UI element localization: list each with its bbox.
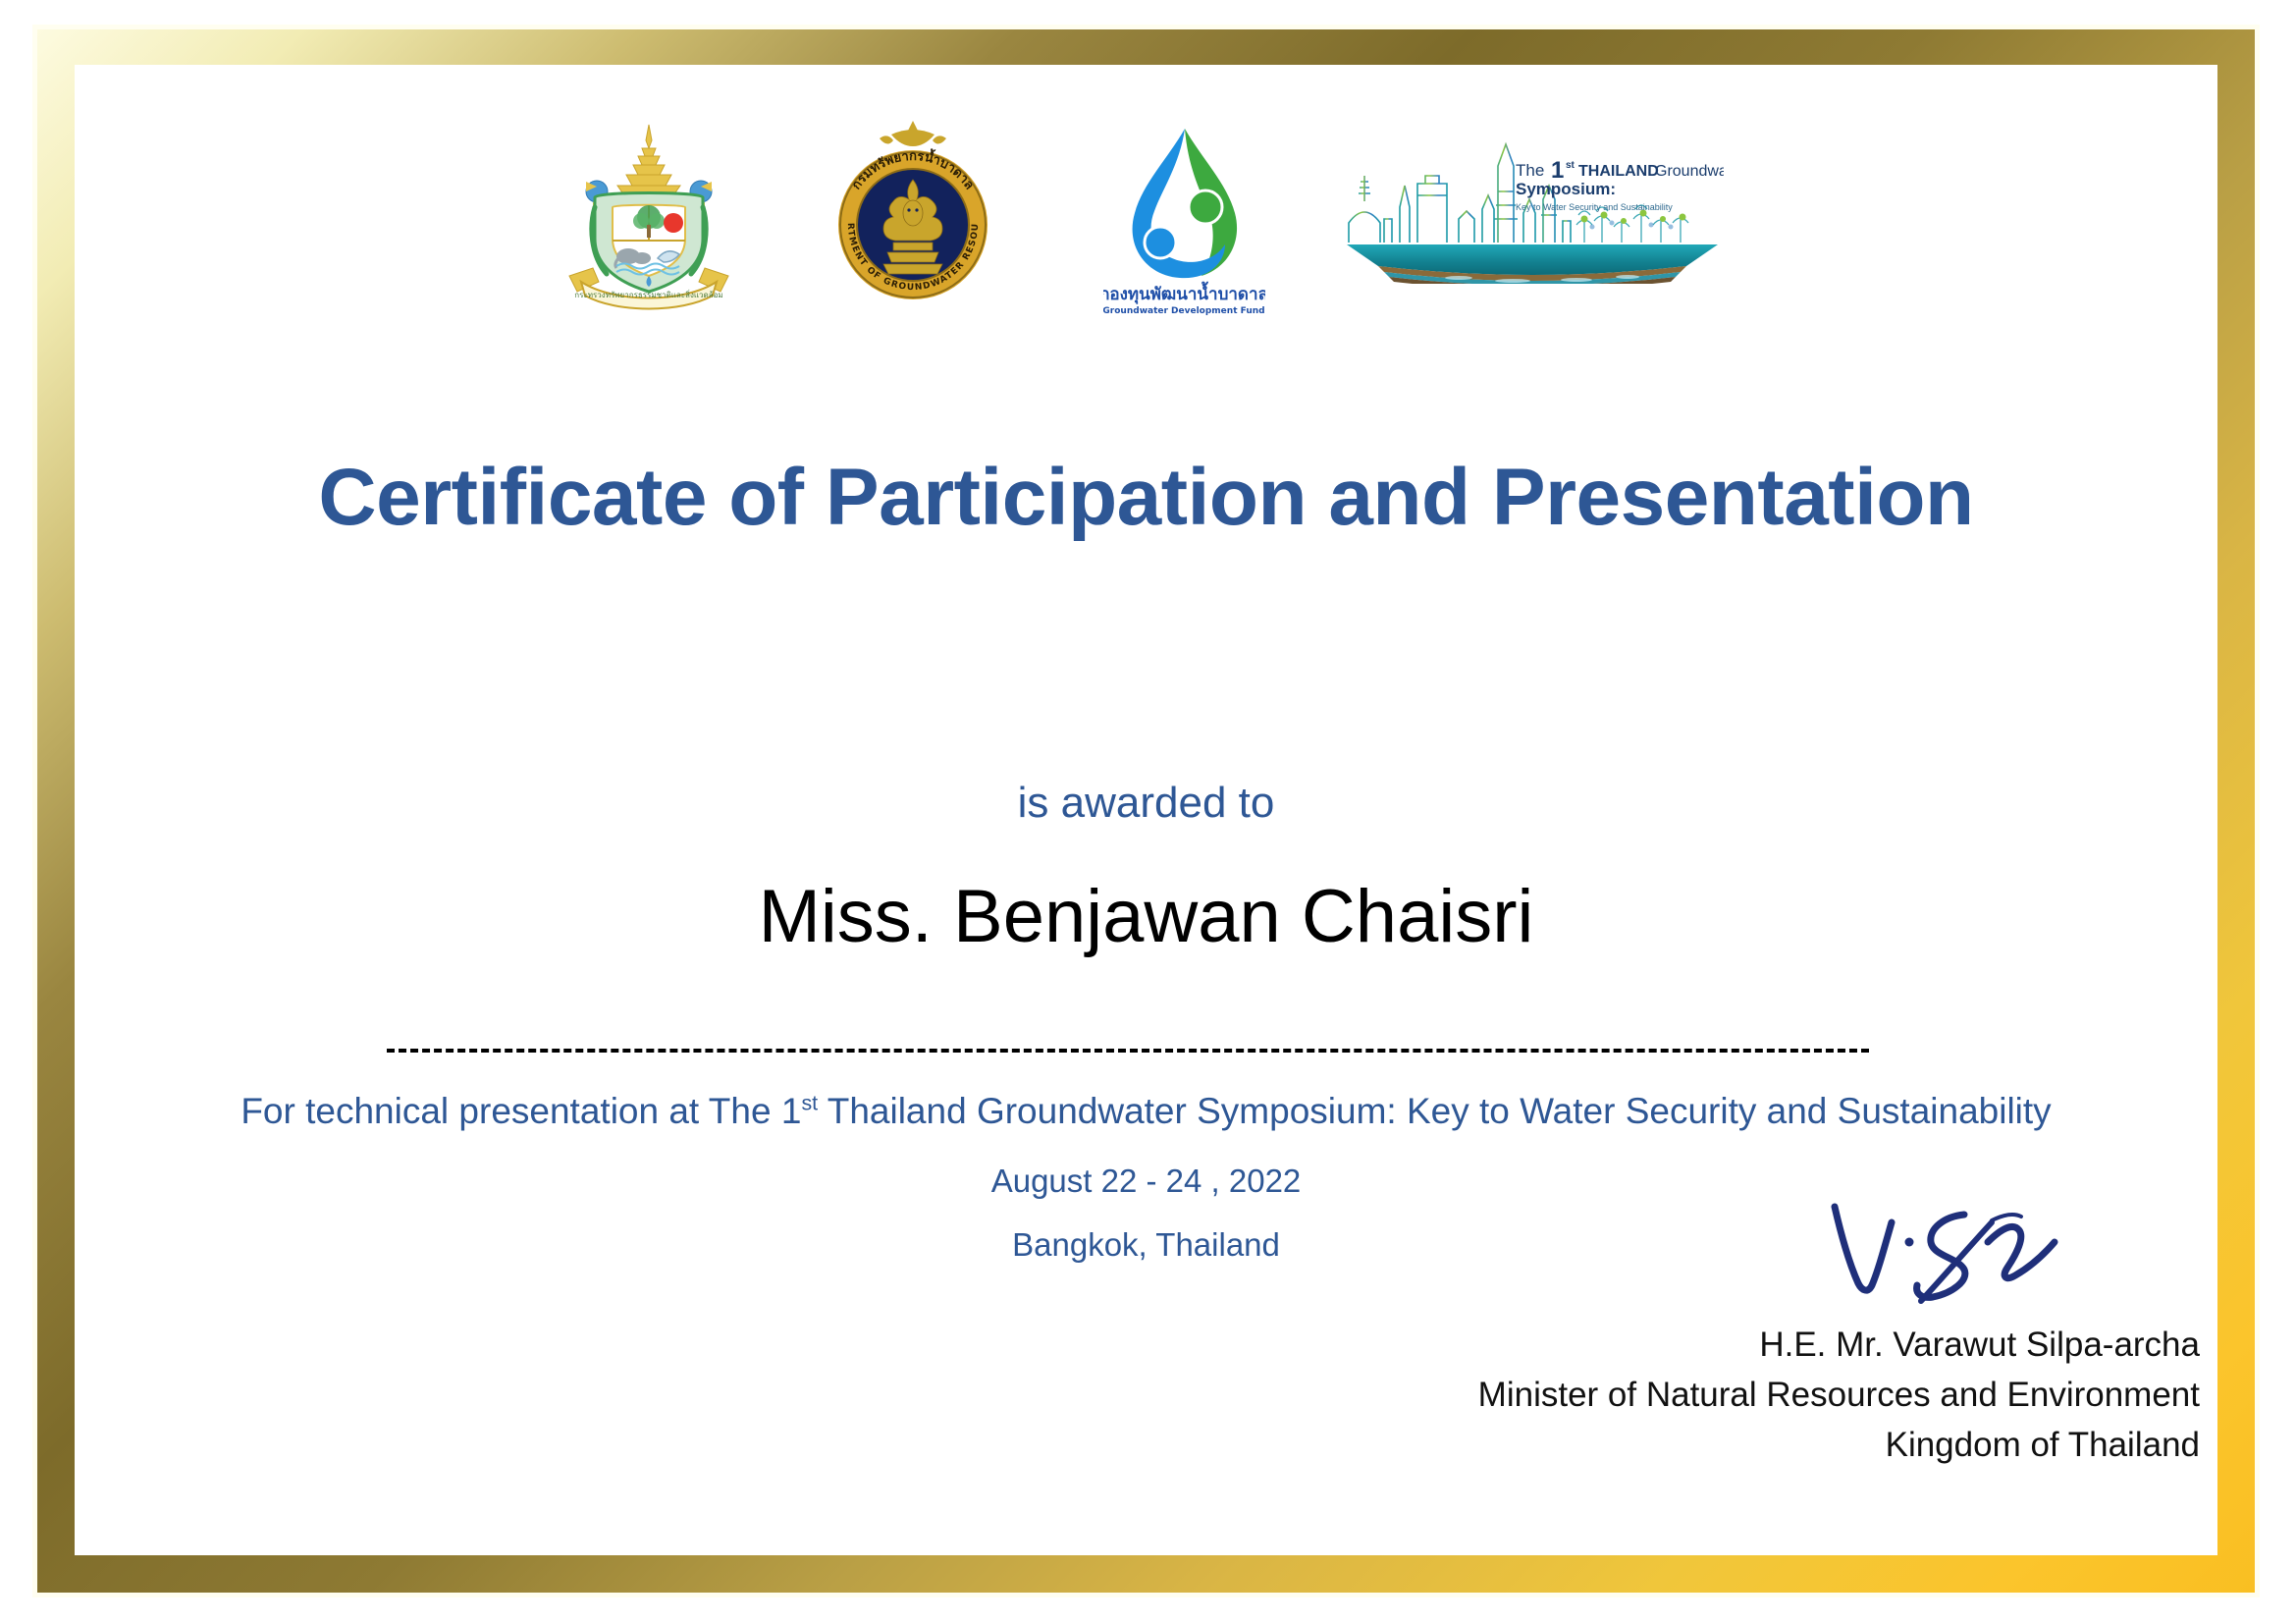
svg-text:Symposium:: Symposium: [1516,180,1616,198]
department-of-groundwater-resources-seal-icon: กรมทรัพยากรน้ำบาดาล DEPARTMENT OF GROUND… [823,119,1004,310]
logo-row: กระทรวงทรัพยากรธรรมชาติและสิ่งแวดล้อม [75,119,2217,325]
awarded-to-label: is awarded to [75,782,2217,825]
svg-text:THAILAND: THAILAND [1578,163,1659,180]
svg-text:Groundwater: Groundwater [1655,163,1724,180]
recipient-name: Miss. Benjawan Chaisri [75,880,2217,954]
certificate-page: กระทรวงทรัพยากรธรรมชาติและสิ่งแวดล้อม [0,0,2296,1624]
certificate-content: กระทรวงทรัพยากรธรรมชาติและสิ่งแวดล้อม [75,65,2217,1555]
certificate-title: Certificate of Participation and Present… [75,458,2217,538]
handwritten-signature-icon [1454,1199,2200,1317]
signature-block: H.E. Mr. Varawut Silpa-archa Minister of… [1454,1199,2200,1470]
svg-text:The: The [1516,161,1544,180]
thailand-groundwater-symposium-skyline-icon: The 1 st THAILAND Groundwater Symposium:… [1341,136,1724,284]
signer-name: H.E. Mr. Varawut Silpa-archa [1454,1321,2200,1371]
signer-country: Kingdom of Thailand [1454,1421,2200,1471]
presentation-rest: Thailand Groundwater Symposium: Key to W… [818,1091,2052,1131]
svg-text:Groundwater Development Fund: Groundwater Development Fund [1103,306,1265,316]
svg-text:st: st [1566,160,1575,171]
signer-title: Minister of Natural Resources and Enviro… [1454,1371,2200,1421]
recipient-name-dashed-rule [387,1049,1869,1053]
groundwater-development-fund-waterdrop-icon: กองทุนพัฒนาน้ำบาดาล Groundwater Developm… [1103,119,1265,320]
presentation-description: For technical presentation at The 1st Th… [75,1092,2217,1132]
thai-ministry-emblem-icon: กระทรวงทรัพยากรธรรมชาติและสิ่งแวดล้อม [556,119,742,315]
event-date: August 22 - 24 , 2022 [75,1164,2217,1197]
svg-text:กองทุนพัฒนาน้ำบาดาล: กองทุนพัฒนาน้ำบาดาล [1103,281,1265,304]
presentation-prefix: For technical presentation at The 1 [240,1091,801,1131]
ordinal-suffix: st [801,1092,818,1115]
svg-text:กระทรวงทรัพยากรธรรมชาติและสิ่ง: กระทรวงทรัพยากรธรรมชาติและสิ่งแวดล้อม [574,289,722,299]
svg-text:Key to Water Security and Sust: Key to Water Security and Sustainability [1516,202,1673,212]
